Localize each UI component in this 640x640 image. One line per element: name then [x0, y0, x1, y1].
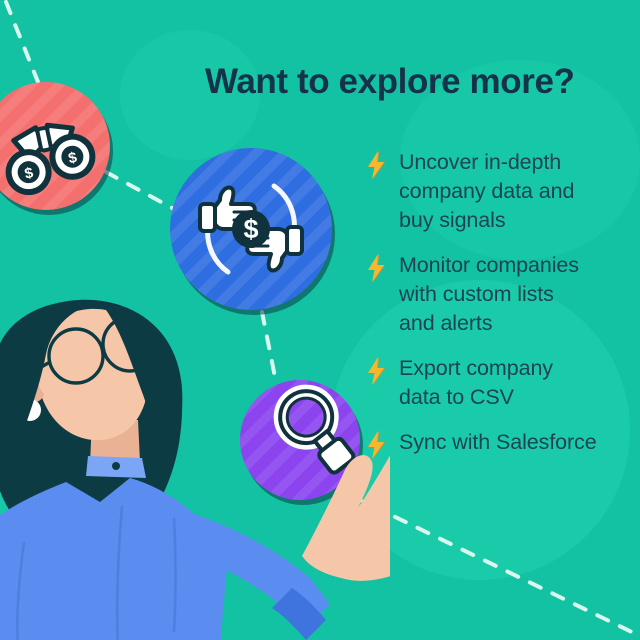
feature-item-sync-salesforce: Sync with Salesforce [366, 428, 640, 460]
binoculars-dollar-icon: $ $ [0, 82, 110, 210]
lightning-bolt-icon [366, 356, 388, 386]
feature-text: Sync with Salesforce [399, 428, 597, 457]
lightning-bolt-icon [366, 150, 388, 180]
svg-text:$: $ [243, 214, 258, 244]
thumbs-up-down-dollar-icon: $ [170, 148, 332, 310]
circle-disc: $ $ [0, 82, 110, 210]
shirt-body [0, 478, 228, 640]
feature-item-uncover-data: Uncover in-depth company data and buy si… [366, 148, 640, 235]
feature-item-monitor-companies: Monitor companies with custom lists and … [366, 251, 640, 338]
page-title: Want to explore more? [205, 62, 640, 102]
collar-button [112, 462, 120, 470]
lightning-bolt-icon [366, 430, 388, 460]
woman-reaching-illustration [0, 296, 390, 640]
icon-circle-binoculars: $ $ [0, 82, 110, 210]
dashed-path-bottom-right [350, 495, 640, 636]
feature-text: Monitor companies with custom lists and … [399, 251, 579, 338]
icon-circle-signals: $ [170, 148, 332, 310]
feature-text: Export company data to CSV [399, 354, 553, 412]
circle-disc: $ [170, 148, 332, 310]
infographic-canvas: $ $ [0, 0, 640, 640]
feature-item-export-csv: Export company data to CSV [366, 354, 640, 412]
feature-text: Uncover in-depth company data and buy si… [399, 148, 574, 235]
lightning-bolt-icon [366, 253, 388, 283]
feature-list: Uncover in-depth company data and buy si… [366, 148, 640, 476]
